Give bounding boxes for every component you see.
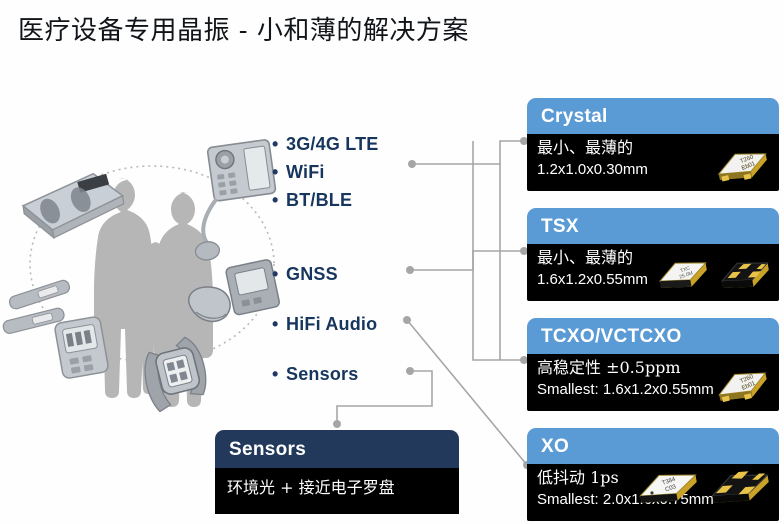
card-title: Crystal	[527, 98, 779, 134]
glucose-meter-icon	[54, 316, 109, 379]
thermometer-icon	[8, 279, 71, 311]
bullet-item: • BT/BLE	[272, 186, 432, 214]
package-images: TXC 25.0M	[655, 253, 773, 293]
smd-osc-bottom-icon	[707, 465, 773, 507]
smd-crystal-top-icon: TXC 25.0M	[655, 253, 711, 293]
card-body: 最小、最薄的 1.2x1.0x0.30mm T260 Eb01	[527, 134, 779, 191]
product-card-sensors[interactable]: Sensors 环境光 + 接近电子罗盘	[215, 430, 459, 514]
bullet-item: • WiFi	[272, 158, 432, 186]
card-body: 最小、最薄的 1.6x1.2x0.55mm TXC 25.0M	[527, 244, 779, 301]
card-line-cn: 环境光 + 接近电子罗盘	[227, 476, 459, 500]
card-body: 高稳定性 ±0.5ppm Smallest: 1.6x1.2x0.55mm T2…	[527, 354, 779, 411]
bullet-label: 3G/4G LTE	[286, 130, 379, 158]
product-card-tcxo[interactable]: TCXO/VCTCXO 高稳定性 ±0.5ppm Smallest: 1.6x1…	[527, 318, 779, 411]
bullet-label: WiFi	[286, 158, 325, 186]
bullet-item: • 3G/4G LTE	[272, 130, 432, 158]
package-images: T260 Eb01	[711, 143, 773, 183]
bullet-dot-icon: •	[272, 130, 286, 158]
bullet-dot-icon: •	[272, 310, 286, 338]
bullet-dot-icon: •	[272, 186, 286, 214]
page-title: 医疗设备专用晶振 - 小和薄的解决方案	[18, 14, 469, 48]
card-body: 低抖动 1ps Smallest: 2.0x1.6x0.75mm T384 C0…	[527, 464, 779, 521]
connector-trunk-to-tcxo	[473, 141, 524, 360]
feature-bullet-list: • 3G/4G LTE • WiFi • BT/BLE • GNSS • HiF…	[272, 130, 432, 388]
card-title: TCXO/VCTCXO	[527, 318, 779, 354]
bullet-label: GNSS	[286, 260, 338, 288]
card-body: 环境光 + 接近电子罗盘	[215, 468, 459, 514]
bullet-label: HiFi Audio	[286, 310, 377, 338]
card-title: Sensors	[215, 430, 459, 468]
product-card-tsx[interactable]: TSX 最小、最薄的 1.6x1.2x0.55mm TXC 25.0M	[527, 208, 779, 301]
smd-crystal-bottom-icon	[717, 253, 773, 293]
smd-crystal-top-icon: T260 Eb01	[711, 361, 773, 405]
smd-osc-top-icon: T384 C03	[635, 465, 701, 507]
bullet-item: • Sensors	[272, 360, 432, 388]
smd-crystal-top-icon: T260 Eb01	[711, 143, 773, 183]
bullet-label: Sensors	[286, 360, 358, 388]
bullet-dot-icon: •	[272, 158, 286, 186]
bullet-label: BT/BLE	[286, 186, 352, 214]
product-card-xo[interactable]: XO 低抖动 1ps Smallest: 2.0x1.6x0.75mm T384…	[527, 428, 779, 521]
bullet-item: • HiFi Audio	[272, 310, 432, 338]
bullet-dot-icon: •	[272, 260, 286, 288]
product-card-crystal[interactable]: Crystal 最小、最薄的 1.2x1.0x0.30mm T260 Eb01	[527, 98, 779, 191]
card-title: TSX	[527, 208, 779, 244]
package-images: T384 C03	[635, 465, 773, 507]
bullet-dot-icon: •	[272, 360, 286, 388]
package-images: T260 Eb01	[711, 361, 773, 405]
bullet-item: • GNSS	[272, 260, 432, 288]
card-title: XO	[527, 428, 779, 464]
healthcare-devices-illustration	[2, 112, 302, 412]
